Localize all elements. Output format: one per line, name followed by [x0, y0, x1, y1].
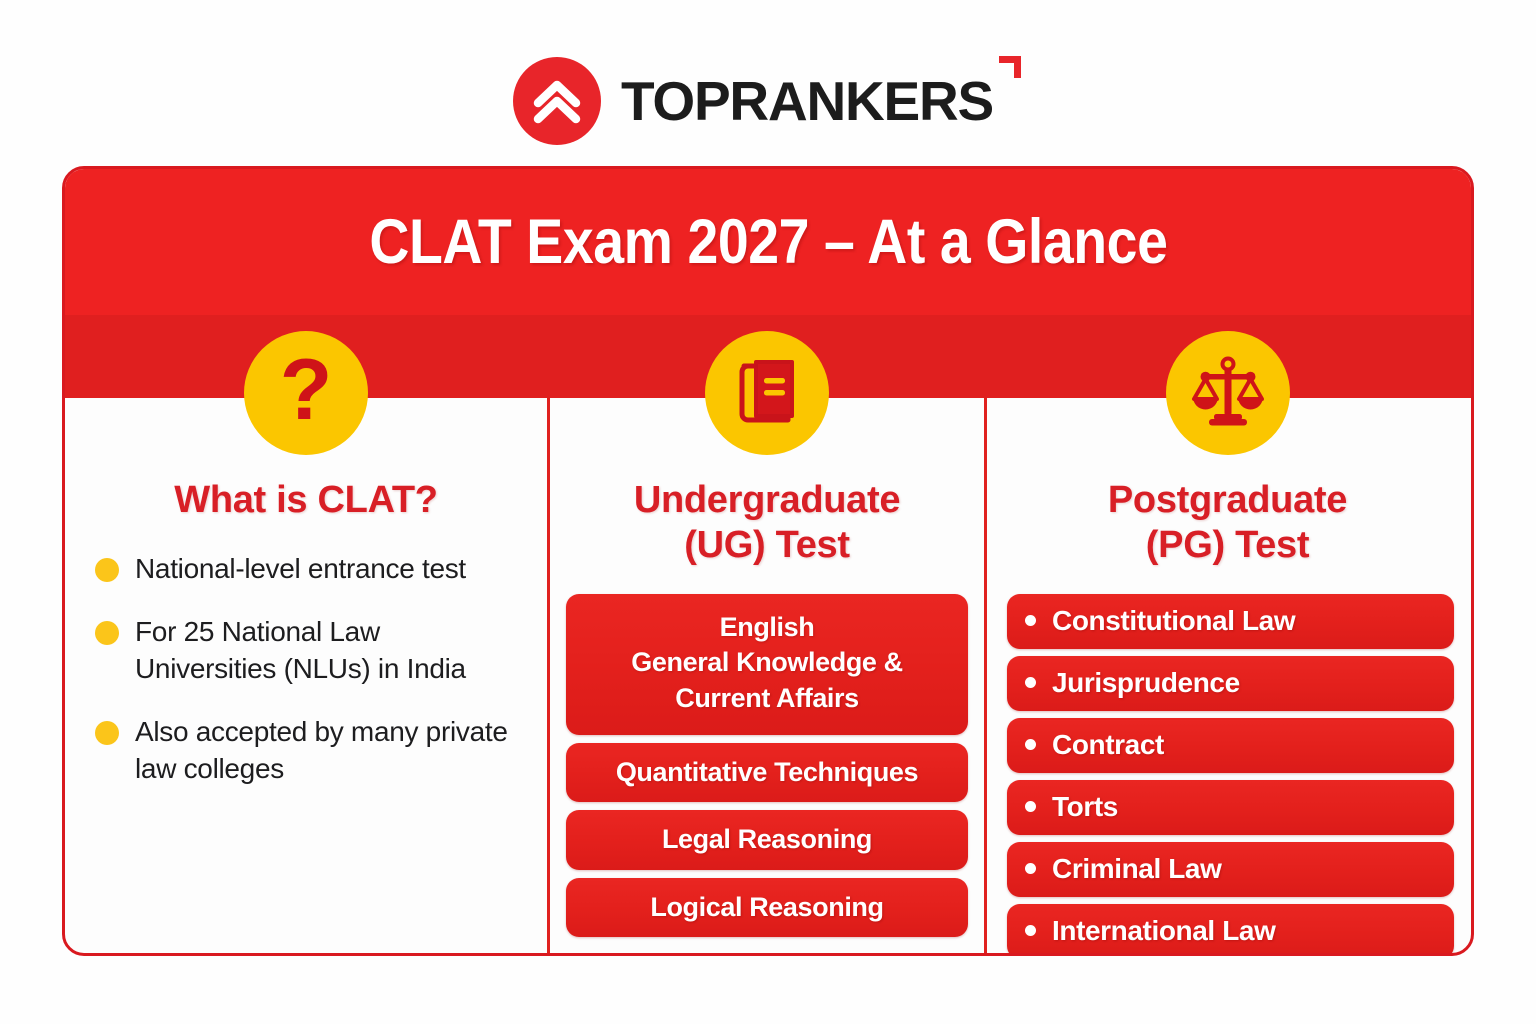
subject-line: English [580, 610, 954, 646]
column-undergraduate-test: Undergraduate (UG) Test English General … [547, 398, 984, 953]
heading-line-1: Postgraduate [1108, 479, 1347, 521]
bullet-dot-icon [1025, 801, 1036, 812]
list-item: Jurisprudence [1007, 656, 1454, 711]
subject-line: General Knowledge & [580, 645, 954, 681]
question-mark-glyph: ? [280, 347, 333, 433]
list-item-text: Also accepted by many private law colleg… [135, 714, 521, 788]
list-item: Also accepted by many private law colleg… [95, 714, 521, 788]
bullet-dot-icon [95, 721, 119, 745]
subject-line: Current Affairs [580, 681, 954, 717]
column-heading-postgraduate: Postgraduate (PG) Test [987, 478, 1468, 568]
bullet-dot-icon [1025, 739, 1036, 750]
corner-arrow-icon [995, 52, 1025, 82]
card-header-band: CLAT Exam 2027 – At a Glance [65, 169, 1471, 315]
brand-header: TOPRANKERS [0, 46, 1536, 156]
list-item: Torts [1007, 780, 1454, 835]
list-item: Quantitative Techniques [566, 743, 968, 803]
bullet-dot-icon [1025, 615, 1036, 626]
subject-line: Quantitative Techniques [580, 755, 954, 791]
bullet-dot-icon [1025, 863, 1036, 874]
column-heading-what-is-clat: What is CLAT? [65, 478, 547, 523]
subject-line: International Law [1052, 915, 1275, 947]
question-mark-icon: ? [244, 331, 368, 455]
pg-subject-list: Constitutional Law Jurisprudence Contrac… [987, 594, 1468, 956]
infographic-page: TOPRANKERS CLAT Exam 2027 – At a Glance … [0, 0, 1536, 1024]
card-columns: ? What is CLAT? National-level entrance … [65, 398, 1471, 953]
clat-bullet-list: National-level entrance test For 25 Nati… [65, 551, 547, 788]
subject-line: Jurisprudence [1052, 667, 1240, 699]
heading-line-2: (UG) Test [684, 524, 849, 566]
list-item: National-level entrance test [95, 551, 521, 588]
heading-line-1: Undergraduate [634, 479, 900, 521]
column-heading-undergraduate: Undergraduate (UG) Test [550, 478, 984, 568]
scales-of-justice-icon [1166, 331, 1290, 455]
toprankers-logo-mark [513, 57, 601, 145]
bullet-dot-icon [1025, 925, 1036, 936]
subject-line: Constitutional Law [1052, 605, 1295, 637]
brand-wordmark: TOPRANKERS [621, 74, 1023, 129]
column-what-is-clat: ? What is CLAT? National-level entrance … [65, 398, 547, 953]
bullet-dot-icon [95, 621, 119, 645]
subject-line: Torts [1052, 791, 1118, 823]
double-chevron-up-icon [527, 71, 587, 131]
ug-subject-list: English General Knowledge & Current Affa… [550, 594, 984, 938]
subject-line: Logical Reasoning [580, 890, 954, 926]
page-title: CLAT Exam 2027 – At a Glance [369, 206, 1167, 278]
list-item: Contract [1007, 718, 1454, 773]
column-postgraduate-test: Postgraduate (PG) Test Constitutional La… [984, 398, 1468, 953]
list-item-text: National-level entrance test [135, 551, 466, 588]
heading-line-2: (PG) Test [1146, 524, 1309, 566]
list-item-text: For 25 National Law Universities (NLUs) … [135, 614, 521, 688]
list-item: English General Knowledge & Current Affa… [566, 594, 968, 735]
brand-name: TOPRANKERS [621, 74, 993, 129]
list-item: Constitutional Law [1007, 594, 1454, 649]
bullet-dot-icon [1025, 677, 1036, 688]
list-item: Criminal Law [1007, 842, 1454, 897]
bullet-dot-icon [95, 558, 119, 582]
subject-line: Criminal Law [1052, 853, 1221, 885]
book-icon [705, 331, 829, 455]
list-item: International Law [1007, 904, 1454, 956]
subject-line: Contract [1052, 729, 1164, 761]
list-item: For 25 National Law Universities (NLUs) … [95, 614, 521, 688]
list-item: Legal Reasoning [566, 810, 968, 870]
subject-line: Legal Reasoning [580, 822, 954, 858]
clat-overview-card: CLAT Exam 2027 – At a Glance ? What is C… [62, 166, 1474, 956]
list-item: Logical Reasoning [566, 878, 968, 938]
